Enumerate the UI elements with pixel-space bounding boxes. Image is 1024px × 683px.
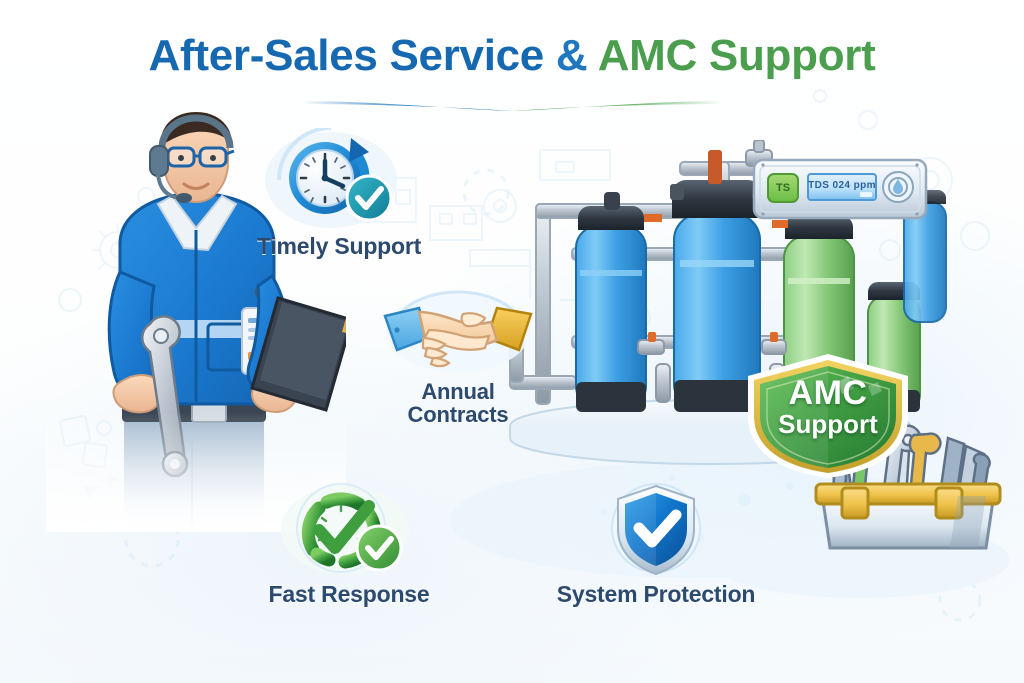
title-divider-swoosh — [302, 92, 722, 122]
page-title: After-Sales Service & AMC Support — [0, 34, 1024, 78]
feature-label-timely-support: Timely Support — [236, 234, 442, 258]
panel-display-value: TDS 024 ppm — [808, 174, 876, 196]
annual-label-line1: Annual — [421, 379, 494, 404]
title-blue-part: After-Sales Service — [149, 31, 544, 80]
feature-annual-contracts[interactable]: Annual Contracts — [378, 286, 538, 427]
clock-refresh-icon — [259, 128, 419, 232]
panel-ts-button-label: TS — [768, 174, 798, 202]
infographic-canvas: After-Sales Service & AMC Support — [0, 0, 1024, 683]
green-gauge-check-icon — [269, 480, 429, 580]
feature-label-annual-contracts: Annual Contracts — [378, 380, 538, 427]
blue-shield-check-icon — [581, 480, 731, 580]
pressure-vessel-blue-1 — [576, 192, 662, 412]
handshake-icon — [383, 286, 533, 378]
feature-label-fast-response: Fast Response — [250, 582, 448, 606]
title-green-part: AMC Support — [598, 31, 876, 80]
feature-fast-response[interactable]: Fast Response — [250, 480, 448, 606]
feature-label-system-protection: System Protection — [542, 582, 770, 606]
title-ampersand: & — [556, 31, 587, 80]
annual-label-line2: Contracts — [408, 402, 509, 427]
page-title-block: After-Sales Service & AMC Support — [0, 34, 1024, 78]
feature-timely-support[interactable]: Timely Support — [236, 128, 442, 258]
amc-support-shield[interactable]: AMC Support — [742, 352, 914, 480]
tds-control-panel[interactable]: TS TDS 024 ppm — [752, 156, 928, 228]
feature-system-protection[interactable]: System Protection — [542, 480, 770, 606]
